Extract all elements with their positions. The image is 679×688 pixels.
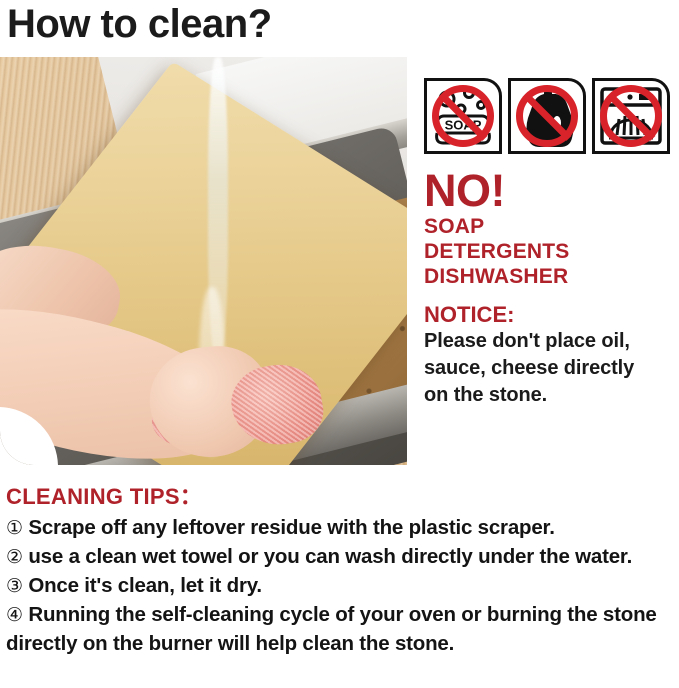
notice-line-1: Please don't place oil, bbox=[424, 328, 676, 355]
prohibited-item-dishwasher: DISHWASHER bbox=[424, 264, 676, 289]
photo-inner bbox=[0, 57, 407, 465]
tip-text: Scrape off any leftover residue with the… bbox=[28, 516, 554, 539]
tip-number: ③ bbox=[6, 576, 23, 597]
cleaning-tips-section: CLEANING TIPS： ① Scrape off any leftover… bbox=[6, 483, 674, 658]
cleaning-tips-list: ① Scrape off any leftover residue with t… bbox=[6, 514, 674, 658]
no-dishwasher-icon bbox=[592, 78, 670, 154]
tip-text: Running the self-cleaning cycle of your … bbox=[6, 603, 657, 655]
list-item: ③ Once it's clean, let it dry. bbox=[6, 572, 674, 601]
cleaning-photo bbox=[0, 57, 407, 465]
prohibited-list: SOAP DETERGENTS DISHWASHER bbox=[424, 214, 676, 289]
cleaning-tips-title: CLEANING TIPS： bbox=[6, 483, 674, 511]
list-item: ① Scrape off any leftover residue with t… bbox=[6, 514, 674, 543]
prohibition-slash bbox=[432, 85, 494, 147]
notice-line-2: sauce, cheese directly bbox=[424, 355, 676, 382]
prohibited-item-detergents: DETERGENTS bbox=[424, 239, 676, 264]
page-title: How to clean? bbox=[7, 1, 272, 47]
prohibited-icon-row: SOAP bbox=[424, 78, 676, 154]
notice-label: NOTICE: bbox=[424, 301, 676, 328]
list-item: ② use a clean wet towel or you can wash … bbox=[6, 543, 674, 572]
no-soap-icon: SOAP bbox=[424, 78, 502, 154]
no-detergent-icon bbox=[508, 78, 586, 154]
tip-text: Once it's clean, let it dry. bbox=[28, 574, 262, 597]
tip-number: ① bbox=[6, 518, 23, 539]
notice-body: Please don't place oil, sauce, cheese di… bbox=[424, 328, 676, 409]
prohibition-slash bbox=[600, 85, 662, 147]
warning-panel: SOAP bbox=[424, 78, 676, 409]
tip-number: ② bbox=[6, 547, 23, 568]
no-headline: NO! bbox=[424, 168, 676, 214]
tip-text: use a clean wet towel or you can wash di… bbox=[28, 545, 632, 568]
prohibited-item-soap: SOAP bbox=[424, 214, 676, 239]
notice-line-3: on the stone. bbox=[424, 382, 676, 409]
list-item: ④ Running the self-cleaning cycle of you… bbox=[6, 601, 674, 658]
tip-number: ④ bbox=[6, 605, 23, 626]
prohibition-slash bbox=[516, 85, 578, 147]
